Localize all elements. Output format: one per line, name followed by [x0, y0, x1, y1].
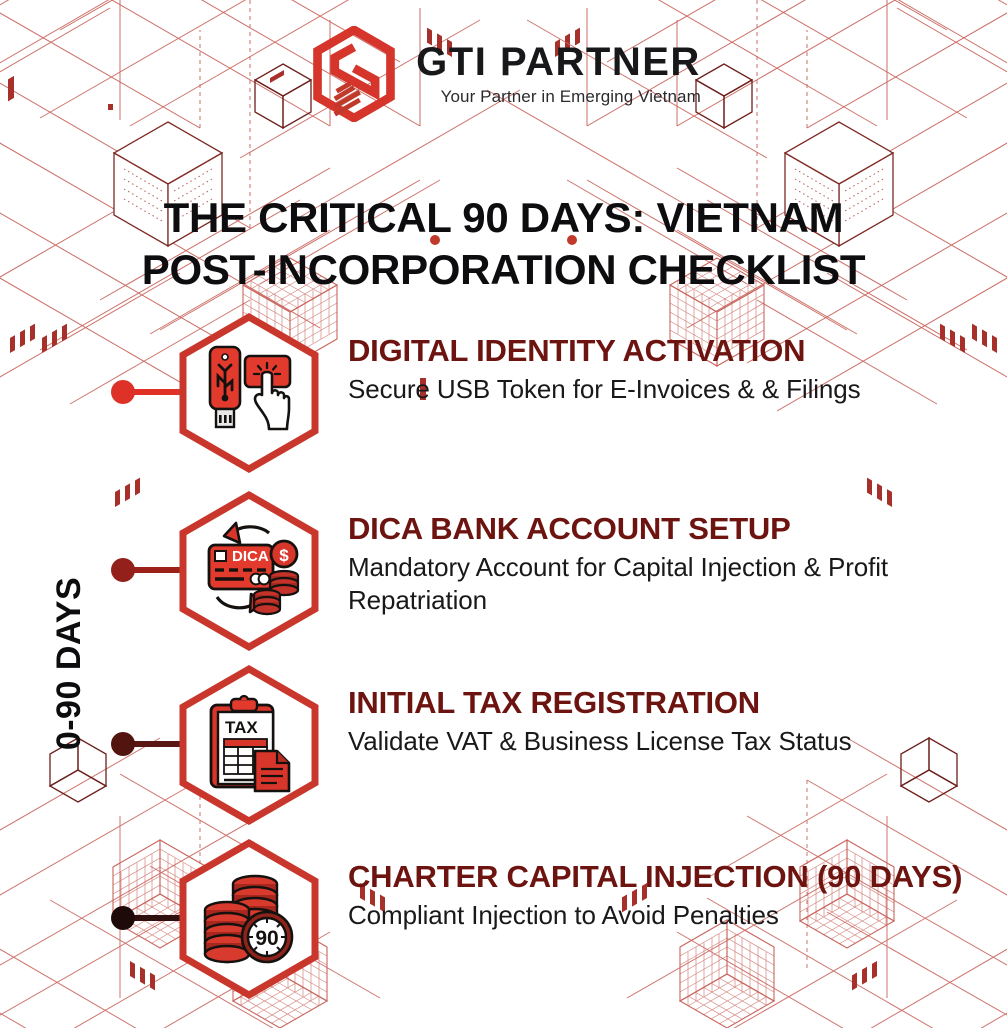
svg-text:$: $ — [279, 546, 289, 565]
checklist-item-icon-cell: DICA $ — [168, 490, 330, 652]
checklist-item-title: DICA BANK ACCOUNT SETUP — [348, 512, 998, 547]
checklist-item-icon-cell — [168, 312, 330, 474]
checklist-item-subtitle: Validate VAT & Business License Tax Stat… — [348, 725, 852, 758]
checklist-item-initial-tax-registration[interactable]: TAX INITIAL TAX REGISTRATION Validate — [168, 664, 998, 826]
timeline-node — [111, 906, 135, 930]
checklist-item-icon-cell: TAX — [168, 664, 330, 826]
coins-stopwatch-icon: 90 — [197, 867, 301, 971]
stopwatch-label: 90 — [255, 927, 278, 950]
brand-logo: GTI PARTNER Your Partner in Emerging Vie… — [0, 26, 1007, 122]
infographic-page: GTI PARTNER Your Partner in Emerging Vie… — [0, 0, 1007, 1028]
timeline-axis-label-text: 0-90 DAYS — [51, 576, 90, 749]
gti-hexagon-handshake-logo-icon — [306, 26, 402, 122]
usb-security-token-icon — [197, 341, 301, 445]
page-title-line-2: POST-INCORPORATION CHECKLIST — [0, 244, 1007, 296]
checklist-item-title: DIGITAL IDENTITY ACTIVATION — [348, 334, 861, 369]
checklist-item-dica-bank-account[interactable]: DICA $ — [168, 490, 998, 652]
page-title-line-1: THE CRITICAL 90 DAYS: VIETNAM — [0, 192, 1007, 244]
tax-clipboard-icon: TAX — [197, 693, 301, 797]
checklist-item-text: CHARTER CAPITAL INJECTION (90 DAYS) Comp… — [330, 838, 962, 932]
timeline-node — [111, 732, 135, 756]
checklist-item-text: INITIAL TAX REGISTRATION Validate VAT & … — [330, 664, 852, 758]
timeline-node — [111, 558, 135, 582]
timeline-node — [111, 380, 135, 404]
checklist-item-charter-capital-injection[interactable]: 90 CHARTER CAPITAL INJECTION (90 DAYS) C… — [168, 838, 998, 1000]
brand-tagline: Your Partner in Emerging Vietnam — [416, 87, 701, 107]
dica-card-label: DICA — [232, 548, 269, 565]
checklist-item-subtitle: Mandatory Account for Capital Injection … — [348, 551, 998, 618]
checklist-item-icon-cell: 90 — [168, 838, 330, 1000]
checklist-item-digital-identity[interactable]: DIGITAL IDENTITY ACTIVATION Secure USB T… — [168, 312, 998, 474]
tax-clipboard-label: TAX — [225, 718, 258, 737]
checklist-item-text: DIGITAL IDENTITY ACTIVATION Secure USB T… — [330, 312, 861, 406]
page-title: THE CRITICAL 90 DAYS: VIETNAM POST-INCOR… — [0, 192, 1007, 296]
checklist-item-title: INITIAL TAX REGISTRATION — [348, 686, 852, 721]
timeline-axis-label: 0-90 DAYS — [48, 548, 92, 778]
checklist-item-title: CHARTER CAPITAL INJECTION (90 DAYS) — [348, 860, 962, 895]
dica-bank-card-icon: DICA $ — [197, 519, 301, 623]
checklist-item-text: DICA BANK ACCOUNT SETUP Mandatory Accoun… — [330, 490, 998, 617]
checklist-item-subtitle: Secure USB Token for E-Invoices & & Fili… — [348, 373, 861, 406]
checklist-item-subtitle: Compliant Injection to Avoid Penalties — [348, 899, 962, 932]
brand-name: GTI PARTNER — [416, 41, 701, 83]
